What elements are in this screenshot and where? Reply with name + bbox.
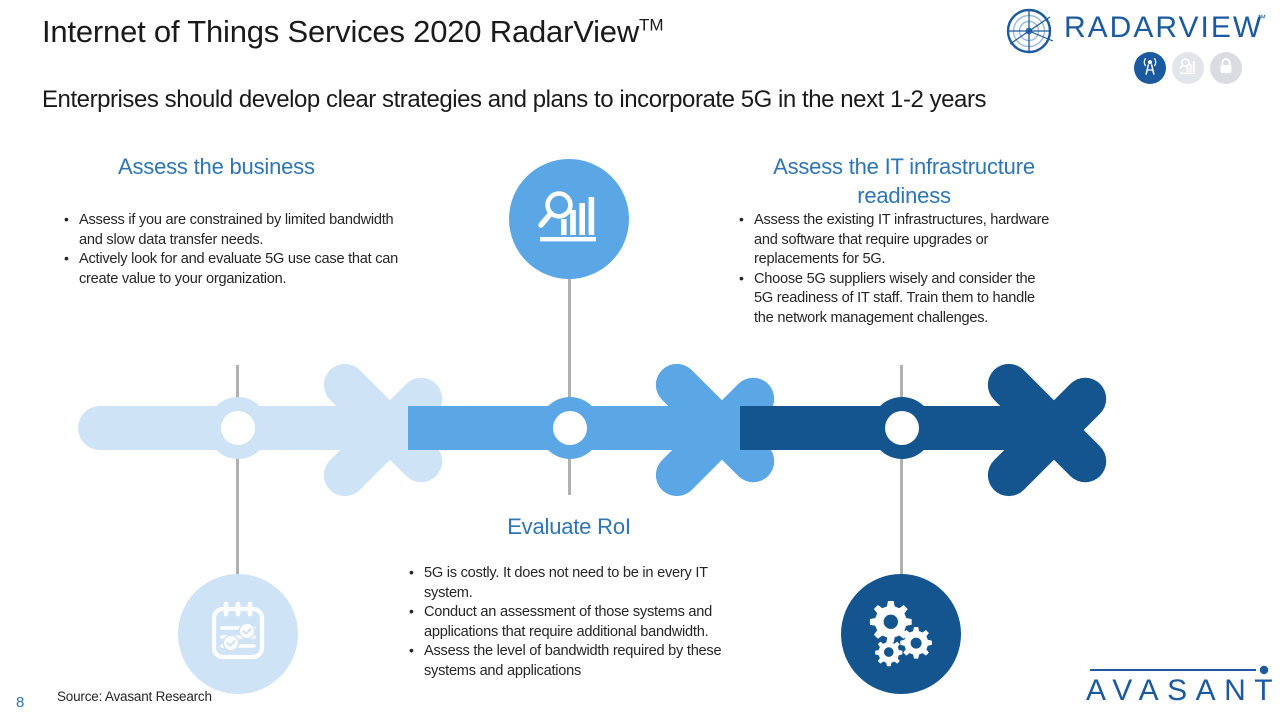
- page-subtitle: Enterprises should develop clear strateg…: [42, 86, 1252, 114]
- page-title-trademark: TM: [639, 16, 664, 35]
- connector-line-step2: [568, 268, 571, 495]
- step-1-heading: Assess the business: [118, 152, 438, 181]
- arrow-head-stage-3: [994, 341, 1126, 517]
- chart-magnifier-icon: [533, 181, 605, 258]
- step-2-bullets: 5G is costly. It does not need to be in …: [408, 564, 738, 682]
- page-number: 8: [16, 694, 24, 711]
- chart-magnifier-circle: [509, 159, 629, 279]
- list-item: Conduct an assessment of those systems a…: [408, 603, 738, 642]
- capability-badges: [1134, 52, 1242, 86]
- signal-tower-icon: [1140, 56, 1160, 81]
- lock-icon: [1216, 56, 1236, 81]
- step-2-heading: Evaluate RoI: [438, 512, 700, 541]
- list-item: Choose 5G suppliers wisely and consider …: [738, 270, 1058, 329]
- list-item: Assess if you are constrained by limited…: [63, 211, 399, 250]
- chart-magnifier-badge: [1172, 52, 1204, 84]
- step-1-bullets: Assess if you are constrained by limited…: [63, 211, 399, 289]
- milestone-node-2: [539, 397, 601, 459]
- avasant-logo: AVASANT: [1074, 656, 1272, 712]
- page-title: Internet of Things Services 2020 RadarVi…: [42, 14, 862, 50]
- gears-circle: [841, 574, 961, 694]
- list-item: 5G is costly. It does not need to be in …: [408, 564, 738, 603]
- chart-magnifier-icon: [1178, 56, 1198, 81]
- avasant-wordmark: AVASANT: [1086, 674, 1280, 708]
- radarview-logo: RADARVIEW ™: [1002, 8, 1264, 54]
- page-title-text: Internet of Things Services 2020 RadarVi…: [42, 14, 639, 49]
- milestone-node-3: [871, 397, 933, 459]
- milestone-node-1: [207, 397, 269, 459]
- clipboard-checklist-icon: [201, 595, 275, 674]
- source-note: Source: Avasant Research: [57, 689, 212, 704]
- clipboard-checklist-circle: [178, 574, 298, 694]
- step-3-heading: Assess the IT infrastructure readiness: [748, 152, 1060, 210]
- signal-tower-badge: [1134, 52, 1166, 84]
- list-item: Assess the existing IT infrastructures, …: [738, 211, 1058, 270]
- step-3-bullets: Assess the existing IT infrastructures, …: [738, 211, 1058, 329]
- radarview-wordmark: RADARVIEW: [1064, 11, 1263, 45]
- gears-icon: [862, 593, 940, 676]
- lock-badge: [1210, 52, 1242, 84]
- radarview-trademark: ™: [1257, 13, 1266, 23]
- list-item: Assess the level of bandwidth required b…: [408, 642, 738, 681]
- list-item: Actively look for and evaluate 5G use ca…: [63, 250, 399, 289]
